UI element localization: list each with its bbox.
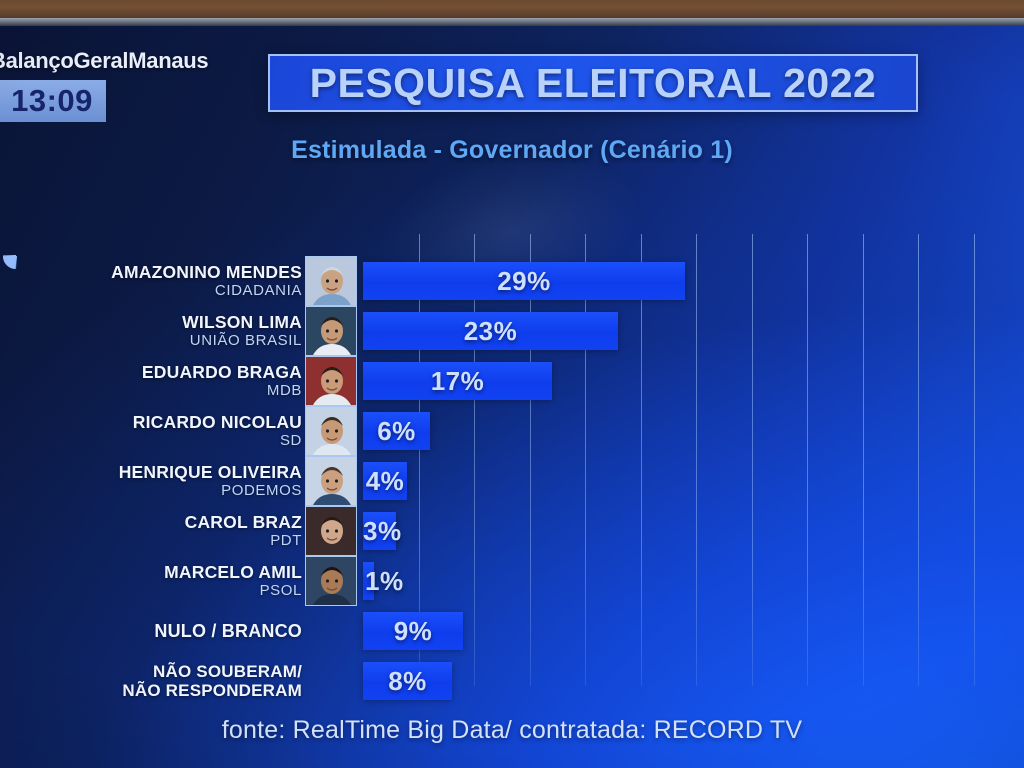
source-credit: fonte: RealTime Big Data/ contratada: RE… <box>0 716 1024 745</box>
candidate-name: HENRIQUE OLIVEIRA <box>2 464 302 482</box>
title-banner: PESQUISA ELEITORAL 2022 <box>268 54 918 112</box>
candidate-label: AMAZONINO MENDESCIDADANIA <box>2 264 302 298</box>
chart-row: MARCELO AMILPSOL1% <box>0 556 1024 606</box>
candidate-photo <box>305 456 357 506</box>
chart-row: CAROL BRAZPDT3% <box>0 506 1024 556</box>
clock-badge: 13:09 <box>0 80 106 122</box>
tv-photograph: BalançoGeralManaus 13:09 PESQUISA ELEITO… <box>0 0 1024 768</box>
candidate-name: CAROL BRAZ <box>2 514 302 532</box>
bar: 4% <box>363 462 407 500</box>
candidate-name: AMAZONINO MENDES <box>2 264 302 282</box>
candidate-party: CIDADANIA <box>2 283 302 298</box>
candidate-label: CAROL BRAZPDT <box>2 514 302 548</box>
candidate-label: MARCELO AMILPSOL <box>2 564 302 598</box>
bar: 3% <box>363 512 396 550</box>
candidate-photo <box>305 406 357 456</box>
chart-row: AMAZONINO MENDESCIDADANIA29% <box>0 256 1024 306</box>
chart-row: WILSON LIMAUNIÃO BRASIL23% <box>0 306 1024 356</box>
bar-value-label: 8% <box>388 666 427 697</box>
chart-row: NULO / BRANCO9% <box>0 606 1024 656</box>
bar: 8% <box>363 662 452 700</box>
candidate-photo <box>305 506 357 556</box>
candidate-party: UNIÃO BRASIL <box>2 333 302 348</box>
candidate-photo <box>305 556 357 606</box>
chart-row: HENRIQUE OLIVEIRAPODEMOS4% <box>0 456 1024 506</box>
bar-value-label: 29% <box>497 266 551 297</box>
candidate-label: HENRIQUE OLIVEIRAPODEMOS <box>2 464 302 498</box>
candidate-label: WILSON LIMAUNIÃO BRASIL <box>2 314 302 348</box>
candidate-name: MARCELO AMIL <box>2 564 302 582</box>
bar: 17% <box>363 362 552 400</box>
candidate-label: NÃO SOUBERAM/NÃO RESPONDERAM <box>2 662 302 700</box>
chart-row: NÃO SOUBERAM/NÃO RESPONDERAM8% <box>0 656 1024 706</box>
bar-value-label: 6% <box>377 416 416 447</box>
candidate-party: PDT <box>2 533 302 548</box>
candidate-label: EDUARDO BRAGAMDB <box>2 364 302 398</box>
bar: 9% <box>363 612 463 650</box>
bar-value-label: 17% <box>431 366 485 397</box>
candidate-party: SD <box>2 433 302 448</box>
candidate-name: NÃO SOUBERAM/NÃO RESPONDERAM <box>2 662 302 700</box>
bar-value-label: 1% <box>365 566 404 597</box>
candidate-party: PODEMOS <box>2 483 302 498</box>
bar-value-label: 3% <box>363 516 402 547</box>
bar-value-label: 4% <box>366 466 405 497</box>
candidate-party: MDB <box>2 383 302 398</box>
candidate-name: RICARDO NICOLAU <box>2 414 302 432</box>
chart-row: RICARDO NICOLAUSD6% <box>0 406 1024 456</box>
bar: 23% <box>363 312 618 350</box>
candidate-name: WILSON LIMA <box>2 314 302 332</box>
candidate-party: PSOL <box>2 583 302 598</box>
page-title: PESQUISA ELEITORAL 2022 <box>310 60 877 107</box>
chart-row: EDUARDO BRAGAMDB17% <box>0 356 1024 406</box>
candidate-name: NULO / BRANCO <box>2 622 302 640</box>
tv-screen: BalançoGeralManaus 13:09 PESQUISA ELEITO… <box>0 26 1024 768</box>
candidate-name: EDUARDO BRAGA <box>2 364 302 382</box>
bar: 29% <box>363 262 685 300</box>
candidate-label: RICARDO NICOLAUSD <box>2 414 302 448</box>
candidate-photo <box>305 306 357 356</box>
wall-above-tv <box>0 0 1024 19</box>
bar: 6% <box>363 412 430 450</box>
bar: 1% <box>363 562 374 600</box>
poll-bar-chart: AMAZONINO MENDESCIDADANIA29%WILSON LIMAU… <box>0 226 1024 686</box>
candidate-photo <box>305 256 357 306</box>
clock-time: 13:09 <box>1 83 93 119</box>
candidate-photo <box>305 356 357 406</box>
program-name-overlay: BalançoGeralManaus <box>0 48 208 74</box>
candidate-label: NULO / BRANCO <box>2 622 302 640</box>
chart-subtitle: Estimulada - Governador (Cenário 1) <box>0 136 1024 165</box>
bar-value-label: 23% <box>464 316 518 347</box>
bar-value-label: 9% <box>394 616 433 647</box>
